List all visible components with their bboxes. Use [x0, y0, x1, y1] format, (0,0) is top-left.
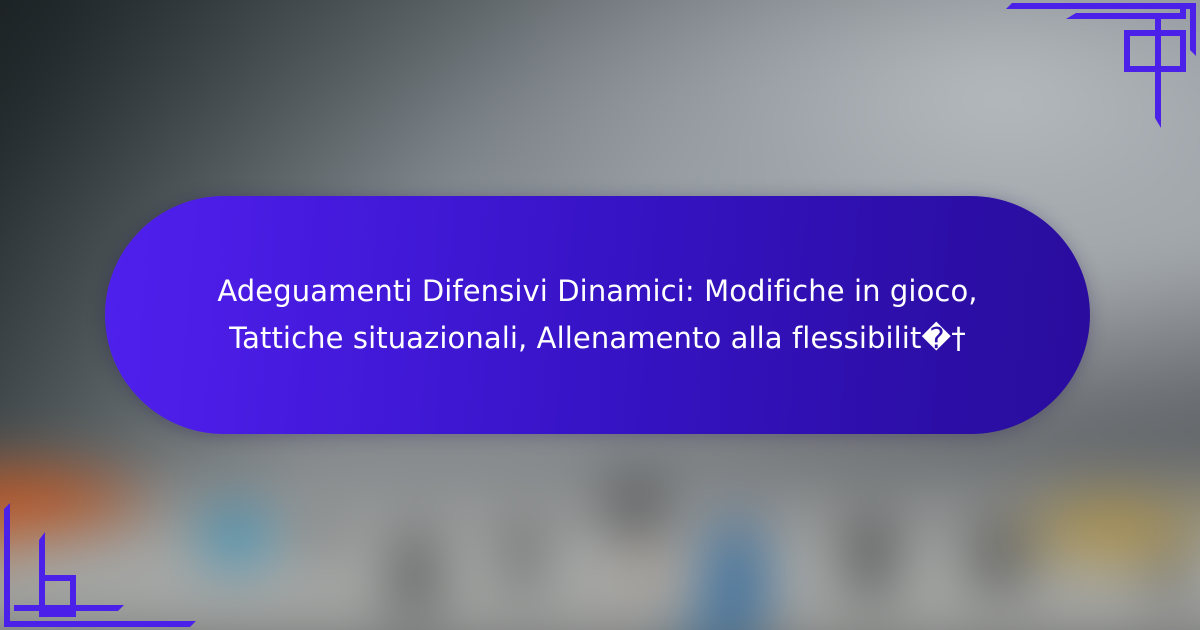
title-banner-pill: Adeguamenti Difensivi Dinamici: Modifich…	[105, 196, 1090, 434]
banner-title: Adeguamenti Difensivi Dinamici: Modifich…	[139, 268, 1055, 362]
og-share-card: Adeguamenti Difensivi Dinamici: Modifich…	[0, 0, 1200, 630]
